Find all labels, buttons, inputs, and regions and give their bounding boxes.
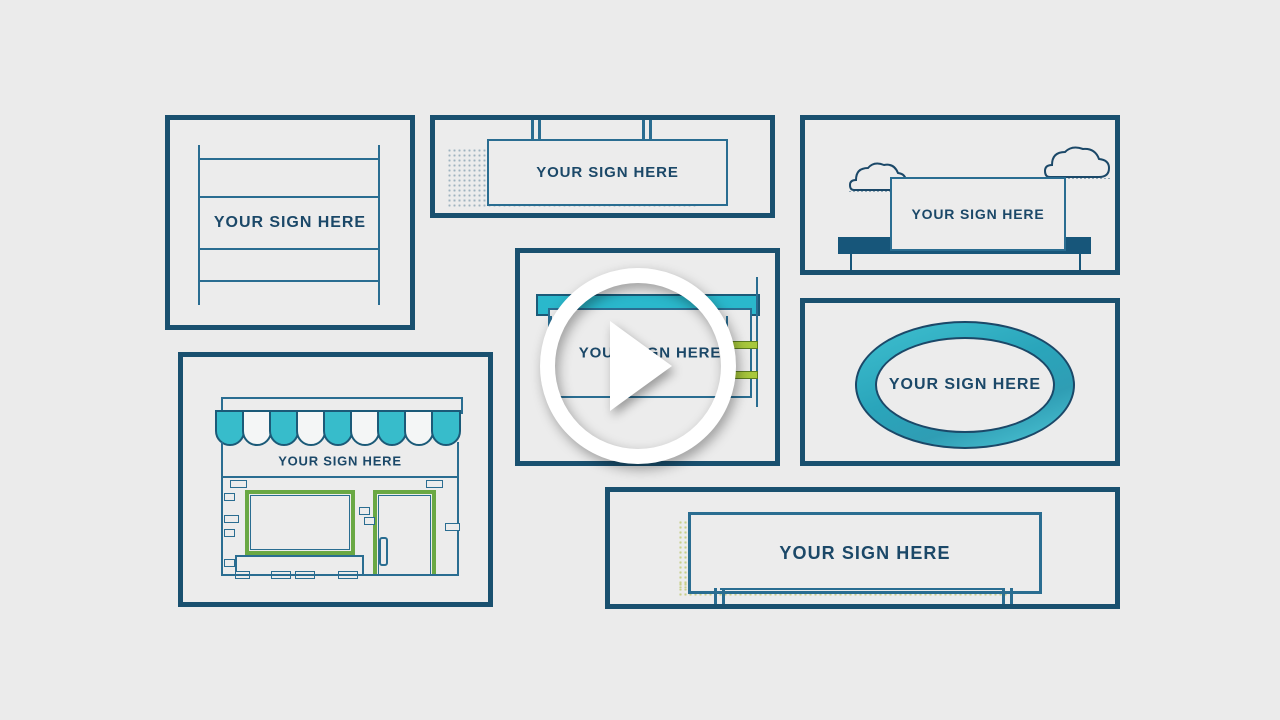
awning-scallop — [404, 410, 434, 446]
banner-leg-right — [1002, 588, 1005, 609]
banner-leg-right-2 — [1010, 588, 1013, 609]
storefront-panel[interactable]: YOUR SIGN HERE — [178, 352, 493, 607]
awning — [215, 410, 465, 446]
storefront-sign-band: YOUR SIGN HERE — [221, 446, 459, 476]
sign-text: YOUR SIGN HERE — [779, 543, 950, 564]
storefront-ground-line — [221, 574, 459, 576]
wall-brick — [224, 529, 235, 537]
storefront-band-divider — [221, 476, 459, 478]
ladder-rail-4 — [198, 280, 380, 282]
awning-scallop — [350, 410, 380, 446]
awning-scallop — [242, 410, 272, 446]
sign-text: YOUR SIGN HERE — [536, 164, 679, 181]
oval-sign-panel[interactable]: YOUR SIGN HERE — [800, 298, 1120, 466]
wall-brick — [224, 559, 235, 567]
hanger-left-2 — [538, 120, 541, 140]
dotted-shadow-left — [447, 148, 489, 204]
storefront-window — [245, 490, 355, 555]
awning-scallop — [215, 410, 245, 446]
video-frame: YOUR SIGN HERE YOUR SIGN HERE YOUR SIGN … — [0, 0, 1280, 720]
sign-text: YOUR SIGN HERE — [911, 206, 1044, 222]
wall-brick — [359, 507, 370, 515]
wall-brick — [364, 517, 375, 525]
door-handle — [379, 537, 388, 566]
awning-scallop — [296, 410, 326, 446]
wall-brick — [224, 493, 235, 501]
banner-leg-left — [714, 588, 717, 609]
ladder-rail-2 — [198, 196, 380, 198]
oval-text-wrap: YOUR SIGN HERE — [855, 321, 1075, 449]
sign-board: YOUR SIGN HERE — [890, 177, 1066, 251]
sign-text: YOUR SIGN HERE — [221, 454, 459, 469]
billboard-leg-left — [850, 254, 852, 275]
awning-scallop — [323, 410, 353, 446]
roadside-billboard-panel[interactable]: YOUR SIGN HERE — [800, 115, 1120, 275]
awning-scallop — [269, 410, 299, 446]
hanger-right — [642, 120, 645, 140]
cloud-icon-right — [1043, 145, 1113, 181]
hanger-left — [531, 120, 534, 140]
banner-leg-left-2 — [722, 588, 725, 609]
ladder-rail-1 — [198, 158, 380, 160]
hanger-right-2 — [649, 120, 652, 140]
wall-brick — [426, 480, 443, 488]
sign-text: YOUR SIGN HERE — [170, 214, 410, 232]
wall-brick — [224, 515, 239, 523]
sign-board: YOUR SIGN HERE — [487, 139, 728, 206]
awning-scallop — [377, 410, 407, 446]
awning-scallop — [431, 410, 461, 446]
ladder-rail-3 — [198, 248, 380, 250]
play-triangle-icon — [610, 321, 672, 411]
banner-base-line — [720, 588, 1005, 590]
play-button[interactable] — [540, 268, 736, 464]
wall-brick — [230, 480, 247, 488]
sign-text: YOUR SIGN HERE — [889, 376, 1041, 394]
wide-banner-panel[interactable]: YOUR SIGN HERE — [605, 487, 1120, 609]
hanging-sign-panel[interactable]: YOUR SIGN HERE — [430, 115, 775, 218]
billboard-leg-right — [1079, 254, 1081, 275]
wall-brick — [445, 523, 460, 531]
sign-board: YOUR SIGN HERE — [688, 512, 1042, 594]
ladder-billboard-panel[interactable]: YOUR SIGN HERE — [165, 115, 415, 330]
